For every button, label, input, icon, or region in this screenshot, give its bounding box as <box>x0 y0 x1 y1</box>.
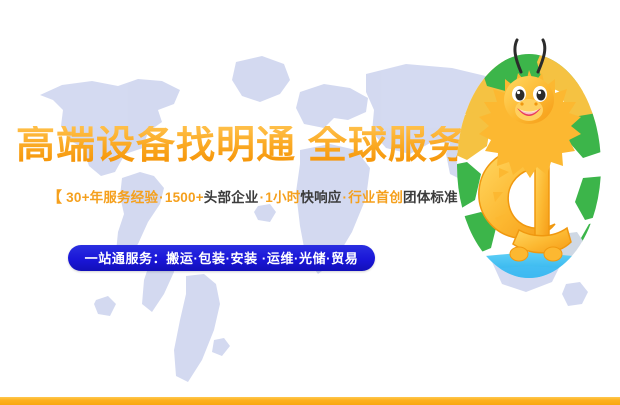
credential-industry-first: 行业首创 <box>348 190 403 205</box>
credential-client-label: 头部企业 <box>204 190 259 205</box>
dragon-globe-mascot <box>443 38 615 320</box>
credential-response-label: 快响应 <box>300 190 341 205</box>
bottom-accent-bar <box>0 397 620 405</box>
credential-response-time: 1小时 <box>265 190 300 205</box>
credentials-subtitle: 【 30+年服务经验·1500+头部企业·1小时快响应·行业首创团体标准 】 <box>47 190 477 205</box>
promotional-banner: 高端设备找明通 全球服务一站通 【 30+年服务经验·1500+头部企业·1小时… <box>0 0 620 405</box>
credential-client-count: 1500+ <box>165 190 204 205</box>
services-pill-label: 一站通服务：搬运·包装·安装 ·运维·光储·贸易 <box>85 252 359 265</box>
separator-dot-1: · <box>158 190 165 205</box>
credential-experience: 30+年服务经验 <box>66 190 158 205</box>
services-pill[interactable]: 一站通服务：搬运·包装·安装 ·运维·光储·贸易 <box>68 245 375 271</box>
open-bracket: 【 <box>47 189 62 206</box>
